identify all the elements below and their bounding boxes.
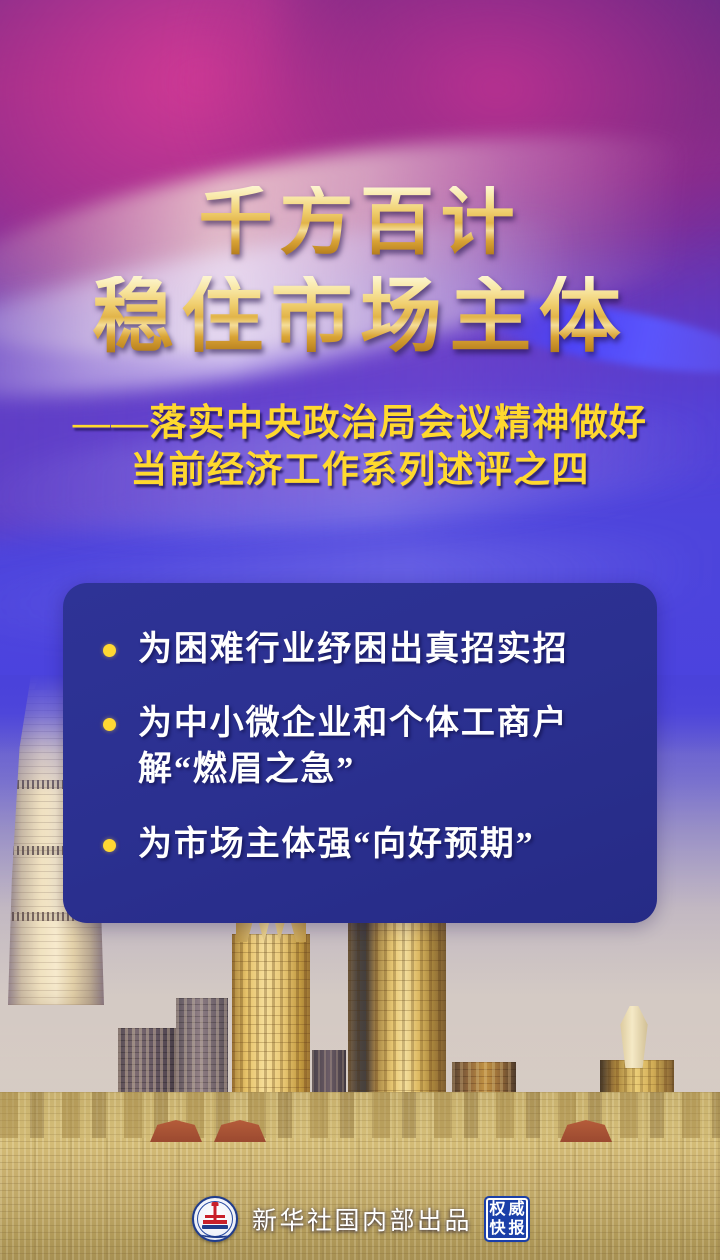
- bullet-text-3: 为市场主体强“向好预期”: [138, 822, 534, 868]
- footer-credit-bar: 新华社国内部出品 权 威 快 报: [0, 1196, 720, 1242]
- logo-arc: [196, 1226, 238, 1238]
- badge-char-2: 威: [508, 1202, 524, 1218]
- list-item: 为中小微企业和个体工商户 解“燃眉之急”: [103, 701, 623, 793]
- badge-char-3: 快: [489, 1221, 505, 1237]
- bullet-dot-icon: [103, 839, 116, 852]
- bullet-text-2: 为中小微企业和个体工商户 解“燃眉之急”: [138, 701, 568, 793]
- badge-char-1: 权: [489, 1202, 505, 1218]
- subtitle-line-1: ——落实中央政治局会议精神做好: [0, 400, 720, 447]
- badge-char-4: 报: [508, 1221, 524, 1237]
- authority-express-badge: 权 威 快 报: [486, 1198, 528, 1240]
- title-line-1: 千方百计: [0, 186, 720, 260]
- bullet-dot-icon: [103, 644, 116, 657]
- title-line-2: 稳住市场主体: [0, 276, 720, 358]
- list-item: 为市场主体强“向好预期”: [103, 822, 623, 868]
- key-points-panel: 为困难行业纾困出真招实招 为中小微企业和个体工商户 解“燃眉之急” 为市场主体强…: [63, 583, 657, 923]
- poster-subtitle: ——落实中央政治局会议精神做好 当前经济工作系列述评之四: [0, 400, 720, 495]
- bullet-dot-icon: [103, 718, 116, 731]
- subtitle-line-2: 当前经济工作系列述评之四: [0, 447, 720, 494]
- bullet-text-1: 为困难行业纾困出真招实招: [138, 627, 568, 673]
- list-item: 为困难行业纾困出真招实招: [103, 627, 623, 673]
- producer-credit: 新华社国内部出品: [252, 1201, 472, 1237]
- poster-canvas: 千方百计 稳住市场主体 ——落实中央政治局会议精神做好 当前经济工作系列述评之四…: [0, 0, 720, 1260]
- poster-title: 千方百计 稳住市场主体: [0, 186, 720, 358]
- xinhua-logo-icon: [192, 1196, 238, 1242]
